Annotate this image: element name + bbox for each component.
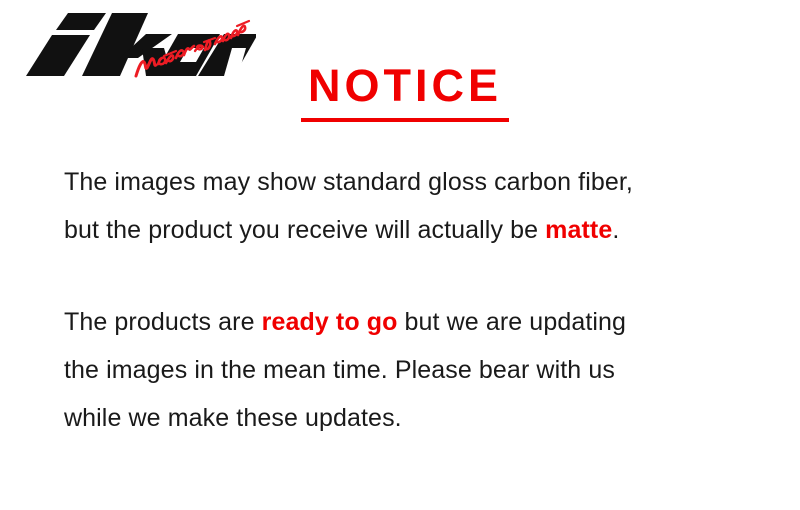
ikon-motorsports-logo: [6, 4, 256, 82]
paragraph-2-line-1-prefix: The products are: [64, 308, 262, 336]
paragraph-1-line-2-prefix: but the product you receive will actuall…: [64, 216, 545, 244]
notice-heading-block: NOTICE: [260, 62, 550, 122]
notice-body: The images may show standard gloss carbo…: [64, 158, 764, 442]
paragraph-1-line-1: The images may show standard gloss carbo…: [64, 158, 764, 206]
emphasis-matte: matte: [545, 216, 612, 244]
paragraph-2-line-1-suffix: but we are updating: [397, 308, 626, 336]
paragraph-1: The images may show standard gloss carbo…: [64, 158, 764, 254]
paragraph-1-line-2: but the product you receive will actuall…: [64, 206, 764, 254]
page-title: NOTICE: [260, 62, 550, 110]
paragraph-2-line-1: The products are ready to go but we are …: [64, 298, 764, 346]
notice-banner: NOTICE The images may show standard glos…: [0, 0, 800, 510]
paragraph-2-line-3: while we make these updates.: [64, 394, 764, 442]
paragraph-1-line-2-suffix: .: [612, 216, 619, 244]
emphasis-ready-to-go: ready to go: [262, 308, 398, 336]
paragraph-spacer: [64, 254, 764, 298]
paragraph-2: The products are ready to go but we are …: [64, 298, 764, 442]
paragraph-2-line-2: the images in the mean time. Please bear…: [64, 346, 764, 394]
title-underline: [301, 118, 509, 122]
